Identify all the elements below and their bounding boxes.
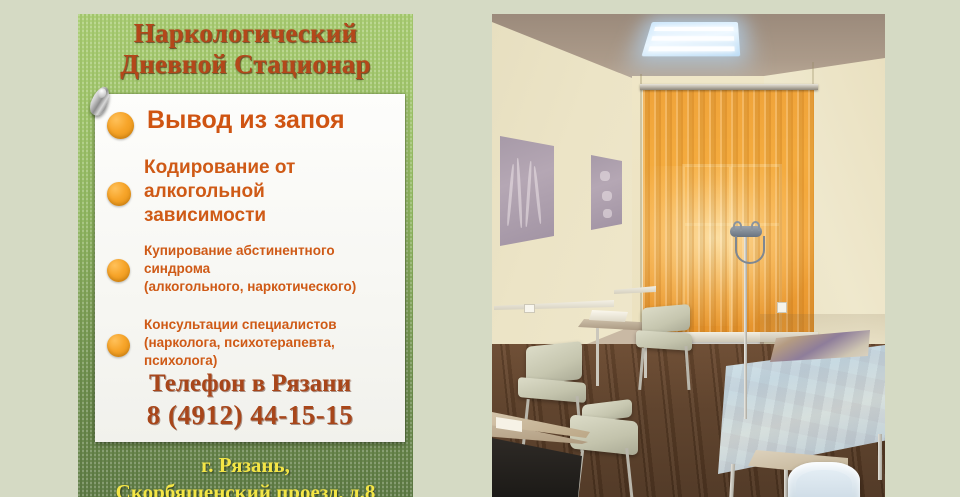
blind-rail	[640, 84, 818, 90]
wall-socket-icon	[777, 302, 787, 313]
service-label: Кодирование от алкогольной зависимости	[144, 156, 295, 228]
wall-socket-icon	[524, 304, 535, 313]
service-item-coding: Кодирование от алкогольной зависимости	[107, 156, 295, 228]
iv-tubing	[735, 236, 765, 264]
bullet-dot-icon	[107, 182, 131, 206]
phone-block: Телефон в Рязани 8 (4912) 44-15-15	[95, 369, 405, 431]
service-label: Купирование абстинентного синдрома (алко…	[144, 242, 356, 296]
bullet-dot-icon	[107, 259, 130, 282]
service-label: Вывод из запоя	[147, 106, 345, 135]
iv-hook-icon	[751, 221, 760, 231]
bullet-dot-icon	[107, 334, 130, 357]
services-list: Вывод из запоя Кодирование от алкогольно…	[95, 94, 405, 384]
blind-slats	[643, 90, 814, 336]
bullet-dot-icon	[107, 112, 134, 139]
lavender-canvas-print	[500, 136, 554, 246]
iv-hook-icon	[733, 221, 742, 231]
floral-canvas-print	[591, 155, 622, 230]
service-item-detox: Вывод из запоя	[107, 106, 345, 139]
service-label: Консультации специалистов (нарколога, пс…	[144, 316, 337, 370]
ceiling-light-panel-icon	[641, 22, 740, 56]
stacked-papers	[589, 310, 628, 322]
service-item-consultation: Консультации специалистов (нарколога, пс…	[107, 316, 337, 370]
wash-basin	[788, 462, 860, 497]
chair-back	[642, 304, 690, 334]
couch-leg	[878, 434, 882, 480]
poster-title: Наркологический Дневной Стационар	[78, 18, 413, 80]
clinic-room-photograph	[492, 14, 885, 497]
phone-number: 8 (4912) 44-15-15	[95, 399, 405, 431]
screenshot-canvas: Наркологический Дневной Стационар Вывод …	[0, 0, 960, 497]
service-item-withdrawal: Купирование абстинентного синдрома (алко…	[107, 242, 356, 296]
clinic-advertisement-poster: Наркологический Дневной Стационар Вывод …	[78, 14, 413, 497]
side-table-leg	[596, 328, 599, 386]
phone-label: Телефон в Рязани	[95, 369, 405, 399]
clinic-address: г. Рязань, Скорбященский проезд, д.8	[78, 452, 413, 497]
